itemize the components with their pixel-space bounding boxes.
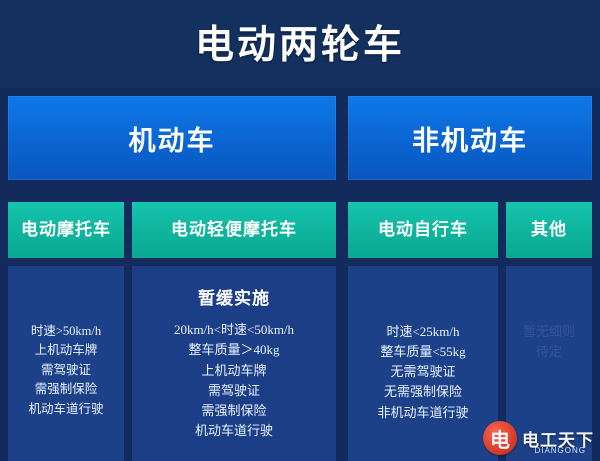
detail-column-electric-moped: 暂缓实施 20km/h<时速<50km/h 整车质量＞40kg 上机动车牌 需驾…	[132, 266, 336, 461]
detail-line: 需强制保险	[8, 380, 124, 399]
detail-line: 待定	[506, 342, 592, 362]
detail-line: 时速<25km/h	[348, 322, 498, 342]
detail-line: 需驾驶证	[132, 381, 336, 401]
subtype-box-electric-bicycle[interactable]: 电动自行车	[348, 202, 498, 258]
detail-line: 上机动车牌	[132, 361, 336, 381]
detail-line: 需驾驶证	[8, 361, 124, 380]
detail-column-electric-bicycle: 时速<25km/h 整车质量<55kg 无需驾驶证 无需强制保险 非机动车道行驶	[348, 266, 498, 461]
detail-line: 机动车道行驶	[8, 400, 124, 419]
detail-line: 机动车道行驶	[132, 421, 336, 441]
detail-line: 非机动车道行驶	[348, 403, 498, 423]
subtype-box-electric-motorcycle[interactable]: 电动摩托车	[8, 202, 124, 258]
subtype-row: 电动摩托车 电动轻便摩托车 电动自行车 其他	[0, 202, 600, 258]
watermark-logo-icon: 电	[483, 421, 517, 455]
detail-line: 整车质量<55kg	[348, 342, 498, 362]
watermark-text-wrap: 电工天下 DIANGONG	[522, 426, 594, 451]
detail-line: 上机动车牌	[8, 341, 124, 360]
detail-note-pending: 暂缓实施	[132, 286, 336, 312]
detail-line: 需强制保险	[132, 401, 336, 421]
watermark: 电 电工天下 DIANGONG	[483, 421, 594, 455]
subtype-box-electric-moped[interactable]: 电动轻便摩托车	[132, 202, 336, 258]
detail-line: 无需驾驶证	[348, 362, 498, 382]
detail-line: 整车质量＞40kg	[132, 340, 336, 360]
category-row: 机动车 非机动车	[0, 96, 600, 180]
header-band: 电动两轮车	[0, 0, 600, 88]
detail-line: 20km/h<时速<50km/h	[132, 320, 336, 340]
infographic-canvas: 电动两轮车 机动车 非机动车 电动摩托车 电动轻便摩托车 电动自行车 其他 时速…	[0, 0, 600, 461]
category-box-motor-vehicle[interactable]: 机动车	[8, 96, 336, 180]
subtype-box-other[interactable]: 其他	[506, 202, 592, 258]
detail-line: 暂无细则	[506, 322, 592, 342]
detail-column-electric-motorcycle: 时速>50km/h 上机动车牌 需驾驶证 需强制保险 机动车道行驶	[8, 266, 124, 461]
watermark-subtext: DIANGONG	[534, 446, 586, 455]
detail-line: 时速>50km/h	[8, 322, 124, 341]
detail-line: 无需强制保险	[348, 382, 498, 402]
category-box-non-motor-vehicle[interactable]: 非机动车	[348, 96, 592, 180]
page-title: 电动两轮车	[0, 14, 600, 70]
